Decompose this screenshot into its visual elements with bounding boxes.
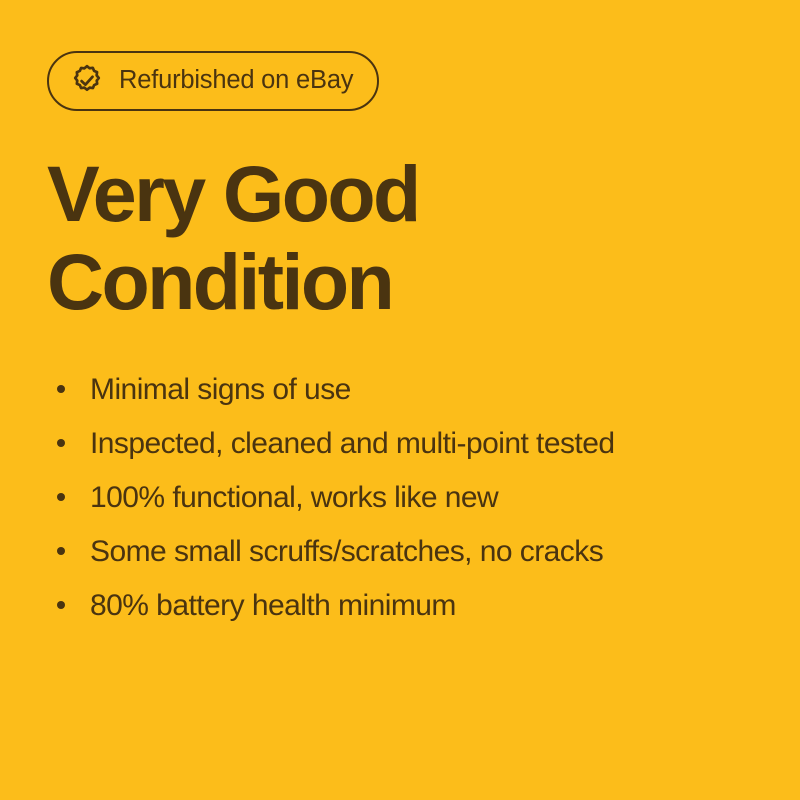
refurbished-badge-label: Refurbished on eBay (119, 68, 353, 94)
condition-feature-list: Minimal signs of use Inspected, cleaned … (56, 362, 614, 632)
bullet-dot-icon (57, 601, 65, 609)
list-item-label: 100% functional, works like new (90, 481, 498, 514)
verified-check-rosette-icon (70, 64, 104, 98)
list-item: 100% functional, works like new (56, 470, 614, 524)
list-item: Some small scruffs/scratches, no cracks (56, 524, 614, 578)
list-item: Minimal signs of use (56, 362, 614, 416)
list-item-label: Some small scruffs/scratches, no cracks (90, 535, 603, 568)
list-item: Inspected, cleaned and multi-point teste… (56, 416, 614, 470)
list-item: 80% battery health minimum (56, 578, 614, 632)
list-item-label: 80% battery health minimum (90, 589, 456, 622)
list-item-label: Minimal signs of use (90, 373, 351, 406)
page-title: Very Good Condition (47, 150, 419, 326)
refurbished-badge: Refurbished on eBay (47, 51, 379, 111)
bullet-dot-icon (57, 493, 65, 501)
refurbished-condition-card: Refurbished on eBay Very Good Condition … (0, 0, 800, 800)
bullet-dot-icon (57, 385, 65, 393)
bullet-dot-icon (57, 439, 65, 447)
bullet-dot-icon (57, 547, 65, 555)
list-item-label: Inspected, cleaned and multi-point teste… (90, 427, 614, 460)
